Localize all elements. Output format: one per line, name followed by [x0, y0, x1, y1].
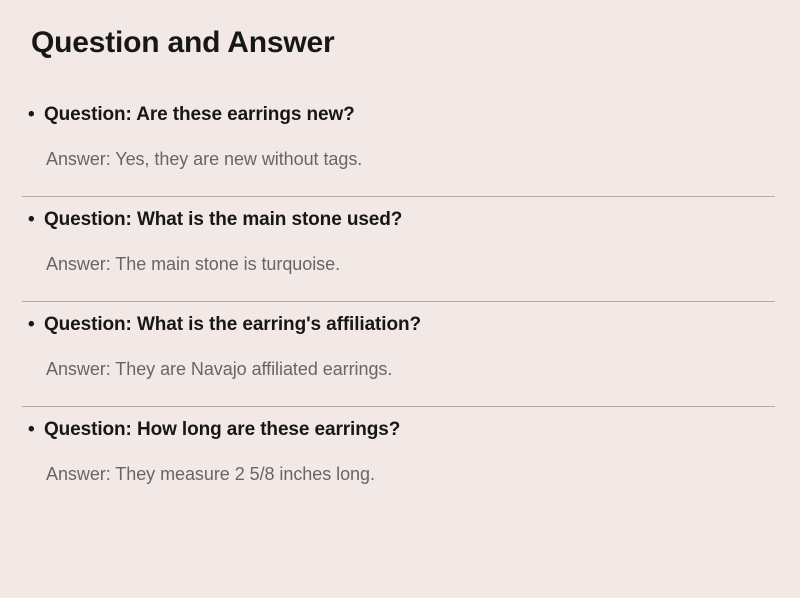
qa-question-text: Question: How long are these earrings?	[44, 418, 776, 442]
bullet-icon: •	[28, 103, 38, 127]
qa-question-text: Question: Are these earrings new?	[44, 103, 776, 127]
qa-question-text: Question: What is the main stone used?	[44, 208, 776, 232]
qa-item: • Question: Are these earrings new? Answ…	[0, 92, 800, 197]
qa-question-row: • Question: What is the main stone used?	[0, 197, 800, 232]
bullet-icon: •	[28, 208, 38, 232]
qa-answer-text: Answer: They measure 2 5/8 inches long.	[46, 462, 776, 486]
qa-question-row: • Question: What is the earring's affili…	[0, 302, 800, 337]
qa-item: • Question: How long are these earrings?…	[0, 407, 800, 486]
qa-item: • Question: What is the earring's affili…	[0, 302, 800, 407]
bullet-icon: •	[28, 313, 38, 337]
qa-answer-text: Answer: The main stone is turquoise.	[46, 252, 776, 276]
qa-answer-text: Answer: They are Navajo affiliated earri…	[46, 357, 776, 381]
question-and-answer-panel: Question and Answer • Question: Are thes…	[0, 0, 800, 598]
qa-question-row: • Question: How long are these earrings?	[0, 407, 800, 442]
qa-list: • Question: Are these earrings new? Answ…	[0, 92, 800, 486]
qa-question-text: Question: What is the earring's affiliat…	[44, 313, 776, 337]
qa-answer-text: Answer: Yes, they are new without tags.	[46, 147, 776, 171]
qa-question-row: • Question: Are these earrings new?	[0, 92, 800, 127]
bullet-icon: •	[28, 418, 38, 442]
page-title: Question and Answer	[31, 24, 334, 62]
qa-item: • Question: What is the main stone used?…	[0, 197, 800, 302]
